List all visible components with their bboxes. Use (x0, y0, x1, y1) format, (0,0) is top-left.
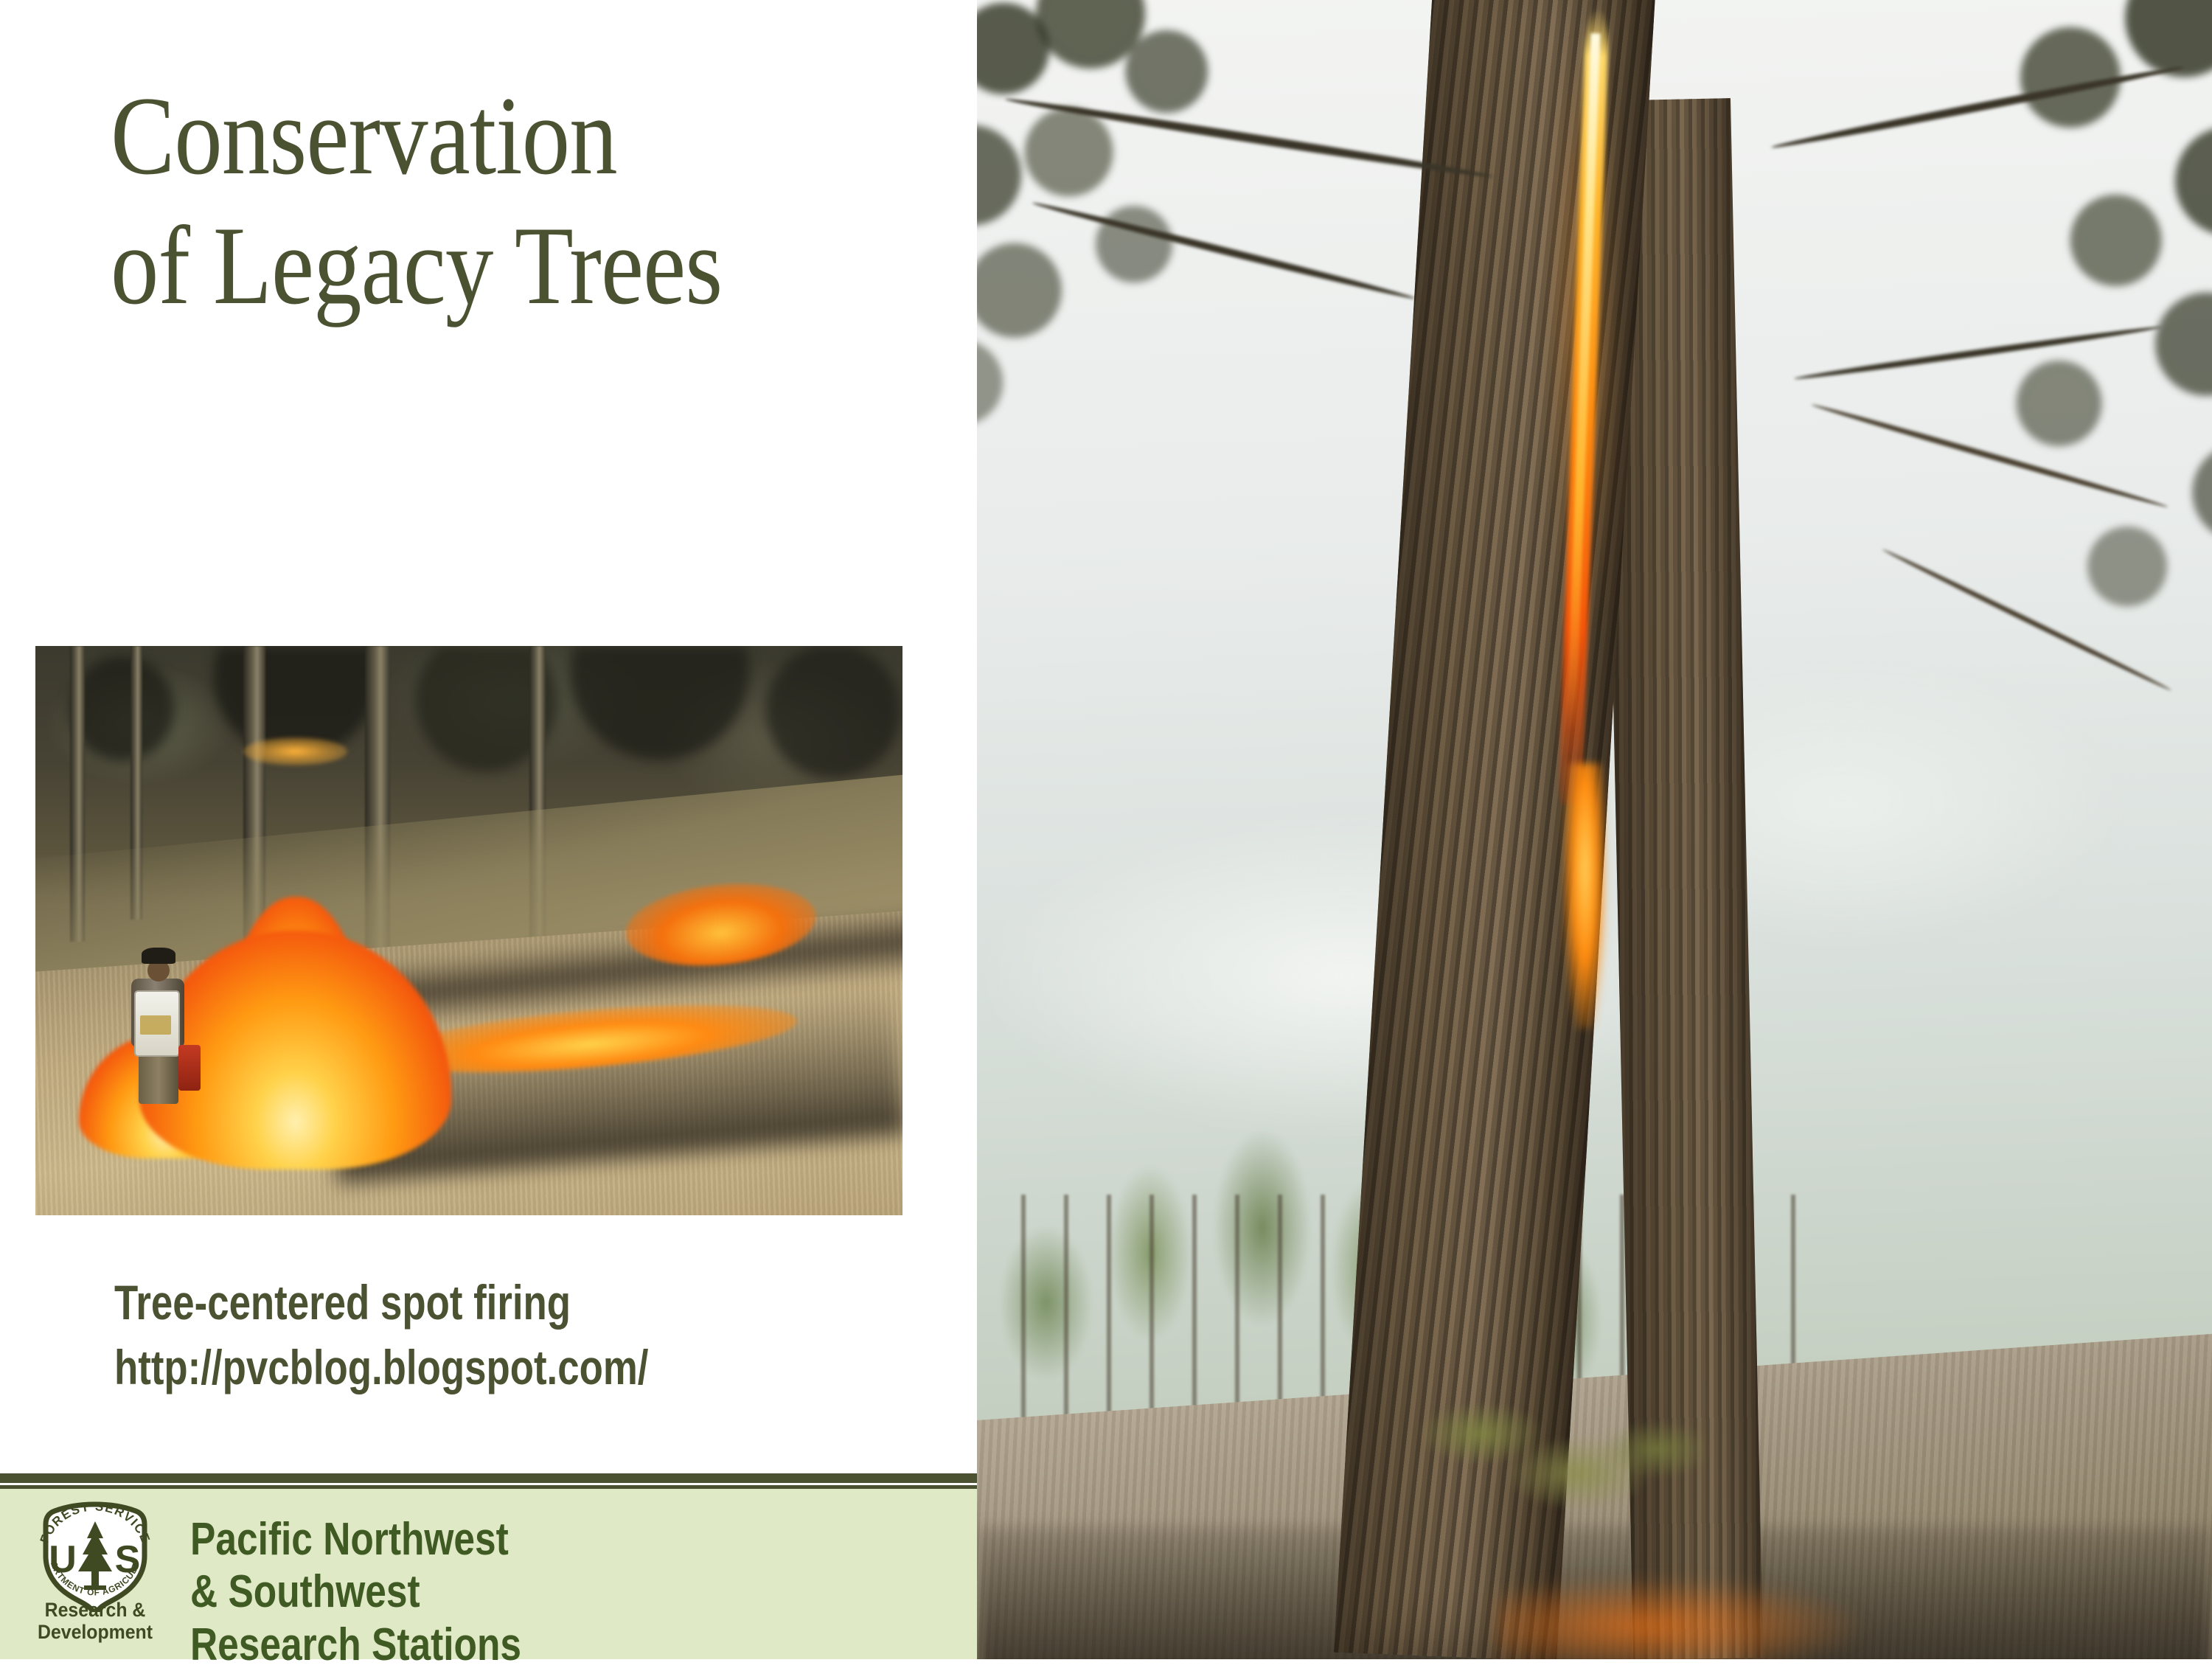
footer-organization-name: Pacific Northwest & Southwest Research S… (190, 1513, 521, 1671)
presentation-slide: Conservation of Legacy Trees Tree-center (0, 0, 2212, 1659)
photo-distant-flame (243, 737, 347, 766)
photo-trunk-base-foliage (1385, 1327, 1706, 1593)
prescribed-burn-spot-firing-photo (35, 646, 902, 1215)
footer-divider-thick (0, 1473, 1020, 1483)
firefighter-backpack-label (140, 1015, 171, 1035)
svg-text:U: U (49, 1538, 77, 1581)
drip-torch-icon (178, 1045, 201, 1091)
photo-flame-base (1564, 763, 1606, 1029)
burning-legacy-tree-photo (977, 0, 2212, 1659)
photo-caption: Tree-centered spot firing http://pvcblog… (114, 1270, 793, 1400)
svg-text:S: S (115, 1538, 141, 1581)
firefighter-hardhat (142, 948, 175, 964)
page-title: Conservation of Legacy Trees (111, 71, 833, 331)
photo-ember-glow (1496, 1577, 1867, 1660)
photo-firefighter (114, 948, 202, 1106)
logo-caption-research-development: Research & Development (32, 1599, 158, 1643)
